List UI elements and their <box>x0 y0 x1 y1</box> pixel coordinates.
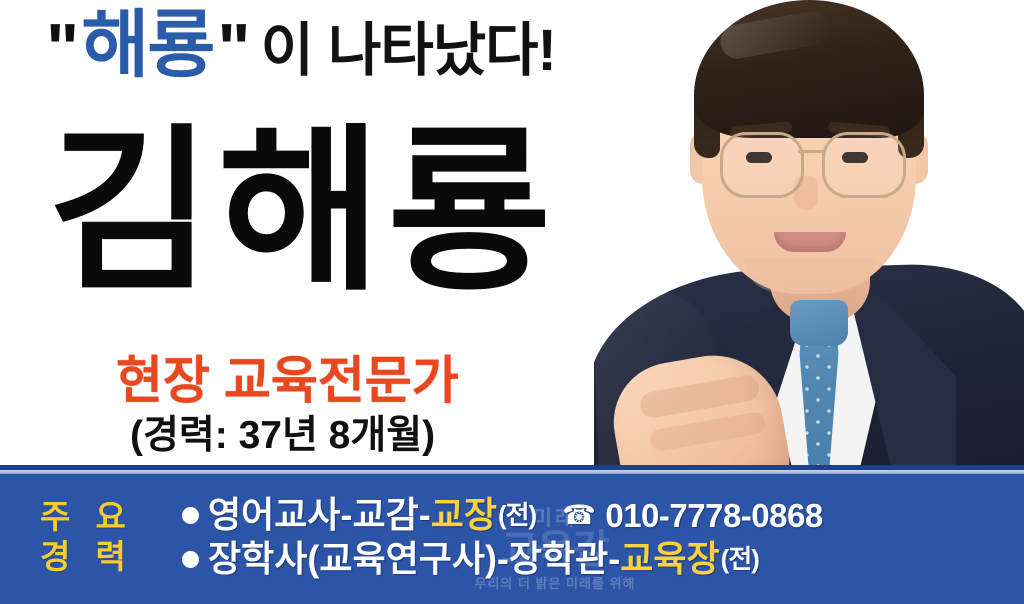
chin <box>744 258 876 292</box>
mouth <box>774 232 846 252</box>
nickname-text: 해룡 <box>81 8 213 82</box>
telephone-icon: ☎ <box>562 502 595 529</box>
eyeglasses-lens-right <box>822 132 906 198</box>
career-row-2-segment-1: 장학사(교육연구사)-장학관- <box>208 541 620 577</box>
career-label-line1: 주 요 <box>40 497 172 537</box>
hair <box>694 0 924 138</box>
footer-content: 주 요 경 력 영어교사-교감- 교장 (전) ☎ 010-7778-0868 <box>0 470 1024 604</box>
career-footer-bar: 미래 교육감 우리의 더 밝은 미래를 위해 주 요 경 력 영어교사-교감- … <box>0 465 1024 604</box>
phone-contact[interactable]: ☎ 010-7778-0868 <box>562 499 823 532</box>
quote-close-mark: " <box>217 13 248 83</box>
campaign-banner: " 해룡 " 이 나타났다! 김해룡 현장 교육전문가 (경력: 37년 8개월… <box>0 0 1024 604</box>
headline-rest-text: 이 나타났다! <box>261 22 556 80</box>
phone-number[interactable]: 010-7778-0868 <box>605 499 822 532</box>
bullet-dot-icon <box>182 551 199 568</box>
career-row-2-segment-3: (전) <box>721 546 759 572</box>
career-row: 장학사(교육연구사)-장학관- 교육장 (전) <box>182 541 1024 577</box>
tagline: 현장 교육전문가 <box>116 355 459 406</box>
career-row-1-segment-2: 교장 <box>431 497 497 533</box>
career-row: 영어교사-교감- 교장 (전) ☎ 010-7778-0868 <box>182 497 1024 533</box>
career-row-1-segment-3: (전) <box>498 502 536 528</box>
career-row-2-segment-2: 교육장 <box>620 541 719 577</box>
bullet-dot-icon <box>182 507 199 524</box>
eyeglasses-lens-left <box>720 132 804 198</box>
career-rows: 영어교사-교감- 교장 (전) ☎ 010-7778-0868 장학사(교육연구… <box>172 497 1024 577</box>
career-label: 주 요 경 력 <box>40 497 172 578</box>
nose <box>794 176 818 210</box>
career-row-1-segment-1: 영어교사-교감- <box>208 497 431 533</box>
headline: " 해룡 " 이 나타났다! <box>46 8 556 82</box>
candidate-name: 김해룡 <box>48 123 557 301</box>
career-years: (경력: 37년 8개월) <box>130 416 435 455</box>
quote-open-mark: " <box>46 13 77 83</box>
career-label-line2: 경 력 <box>40 537 172 577</box>
candidate-portrait <box>594 0 1024 486</box>
eyeglasses-bridge <box>798 150 824 153</box>
necktie-knot <box>790 300 848 346</box>
